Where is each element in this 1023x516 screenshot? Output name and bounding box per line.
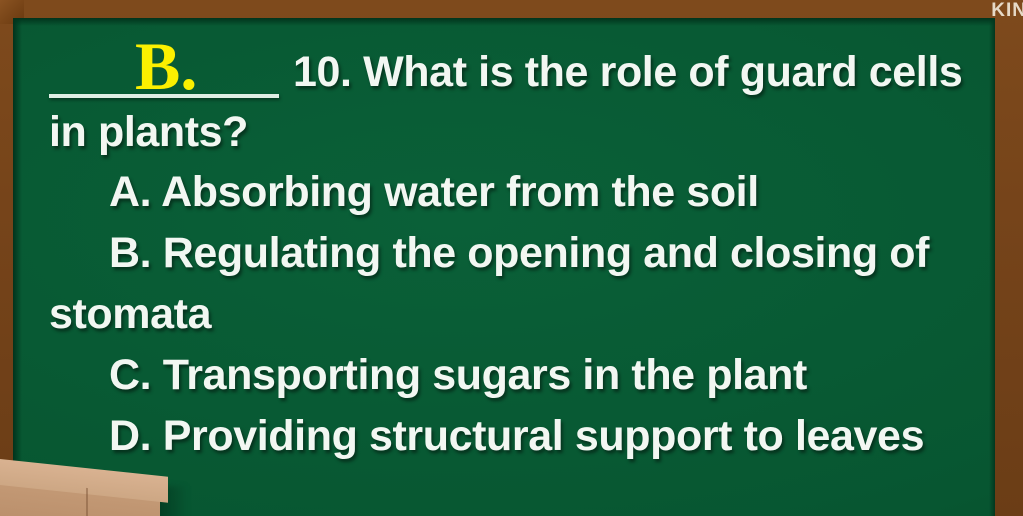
board-bevel-right — [989, 18, 995, 516]
option-b-continuation: stomata — [35, 284, 985, 345]
desk-seam — [86, 488, 88, 516]
board-bevel-top — [13, 18, 995, 26]
question-stem-line-2: in plants? — [35, 102, 985, 162]
question-stem-line-1: B. 10. What is the role of guard cells — [35, 42, 985, 102]
option-a-label: A. Absorbing water from the soil — [109, 162, 759, 222]
question-stem-text-1: 10. What is the role of guard cells — [293, 42, 962, 102]
option-b[interactable]: B. Regulating the opening and closing of — [35, 223, 985, 284]
option-c-label: C. Transporting sugars in the plant — [109, 345, 807, 405]
channel-watermark: KIN — [991, 0, 1023, 22]
option-c[interactable]: C. Transporting sugars in the plant — [35, 345, 985, 406]
question-block: B. 10. What is the role of guard cells i… — [35, 42, 985, 467]
option-b-label-wrapped: stomata — [49, 284, 211, 344]
question-stem-text-2: in plants? — [49, 102, 248, 162]
chalkboard-surface: B. 10. What is the role of guard cells i… — [13, 18, 995, 516]
classroom-desk — [0, 458, 170, 516]
chalkboard-quiz-screen: B. 10. What is the role of guard cells i… — [0, 0, 1023, 516]
option-d[interactable]: D. Providing structural support to leave… — [35, 406, 985, 467]
option-b-label: B. Regulating the opening and closing of — [109, 223, 929, 283]
option-d-label: D. Providing structural support to leave… — [109, 406, 924, 466]
selected-answer-letter: B. — [135, 32, 197, 100]
option-a[interactable]: A. Absorbing water from the soil — [35, 162, 985, 223]
board-bevel-left — [13, 18, 22, 516]
